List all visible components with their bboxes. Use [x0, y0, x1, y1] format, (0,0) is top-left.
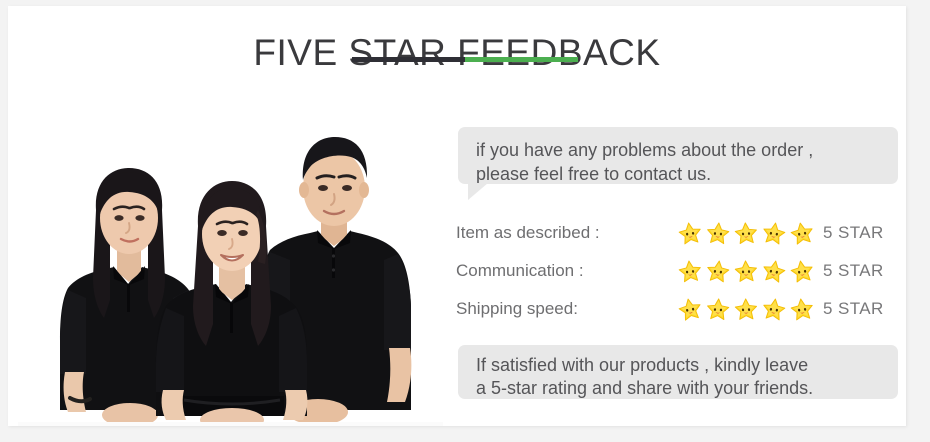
title-underline-green	[465, 57, 578, 62]
title-underline-dark	[352, 57, 465, 62]
table-row: Shipping speed:	[456, 290, 900, 328]
rating-stars-item-as-described	[678, 221, 823, 245]
content-panel: FIVE STAR FEEDBACK	[8, 6, 906, 426]
speech-bubble-top: if you have any problems about the order…	[458, 127, 898, 184]
feedback-column: if you have any problems about the order…	[450, 116, 900, 416]
header: FIVE STAR FEEDBACK	[8, 32, 906, 74]
rating-stars-shipping-speed	[678, 297, 823, 321]
star-icon	[762, 221, 786, 245]
star-icon	[678, 297, 702, 321]
team-photo-illustration	[18, 110, 443, 426]
title-underline	[352, 57, 578, 62]
table-row: Communication :	[456, 252, 900, 290]
speech-bubble-bottom: If satisfied with our products , kindly …	[458, 345, 898, 399]
star-icon	[734, 221, 758, 245]
page-title: FIVE STAR FEEDBACK	[8, 32, 906, 74]
star-icon	[790, 297, 814, 321]
team-photo	[18, 110, 443, 426]
star-icon	[790, 221, 814, 245]
table-row: Item as described :	[456, 214, 900, 252]
star-icon	[762, 259, 786, 283]
star-icon	[678, 259, 702, 283]
star-icon	[790, 259, 814, 283]
star-icon	[706, 297, 730, 321]
star-icon	[734, 297, 758, 321]
rating-stars-communication	[678, 259, 823, 283]
star-icon	[678, 221, 702, 245]
star-icon	[762, 297, 786, 321]
rating-value-communication: 5 STAR	[823, 261, 884, 281]
rating-value-item-as-described: 5 STAR	[823, 223, 884, 243]
speech-bubble-top-tail	[468, 183, 488, 200]
star-icon	[706, 259, 730, 283]
star-icon	[734, 259, 758, 283]
star-icon	[706, 221, 730, 245]
page-frame: FIVE STAR FEEDBACK	[0, 0, 930, 442]
rating-label-shipping-speed: Shipping speed:	[456, 299, 678, 319]
ratings-list: Item as described :	[456, 214, 900, 328]
rating-label-item-as-described: Item as described :	[456, 223, 678, 243]
rating-label-communication: Communication :	[456, 261, 678, 281]
rating-value-shipping-speed: 5 STAR	[823, 299, 884, 319]
